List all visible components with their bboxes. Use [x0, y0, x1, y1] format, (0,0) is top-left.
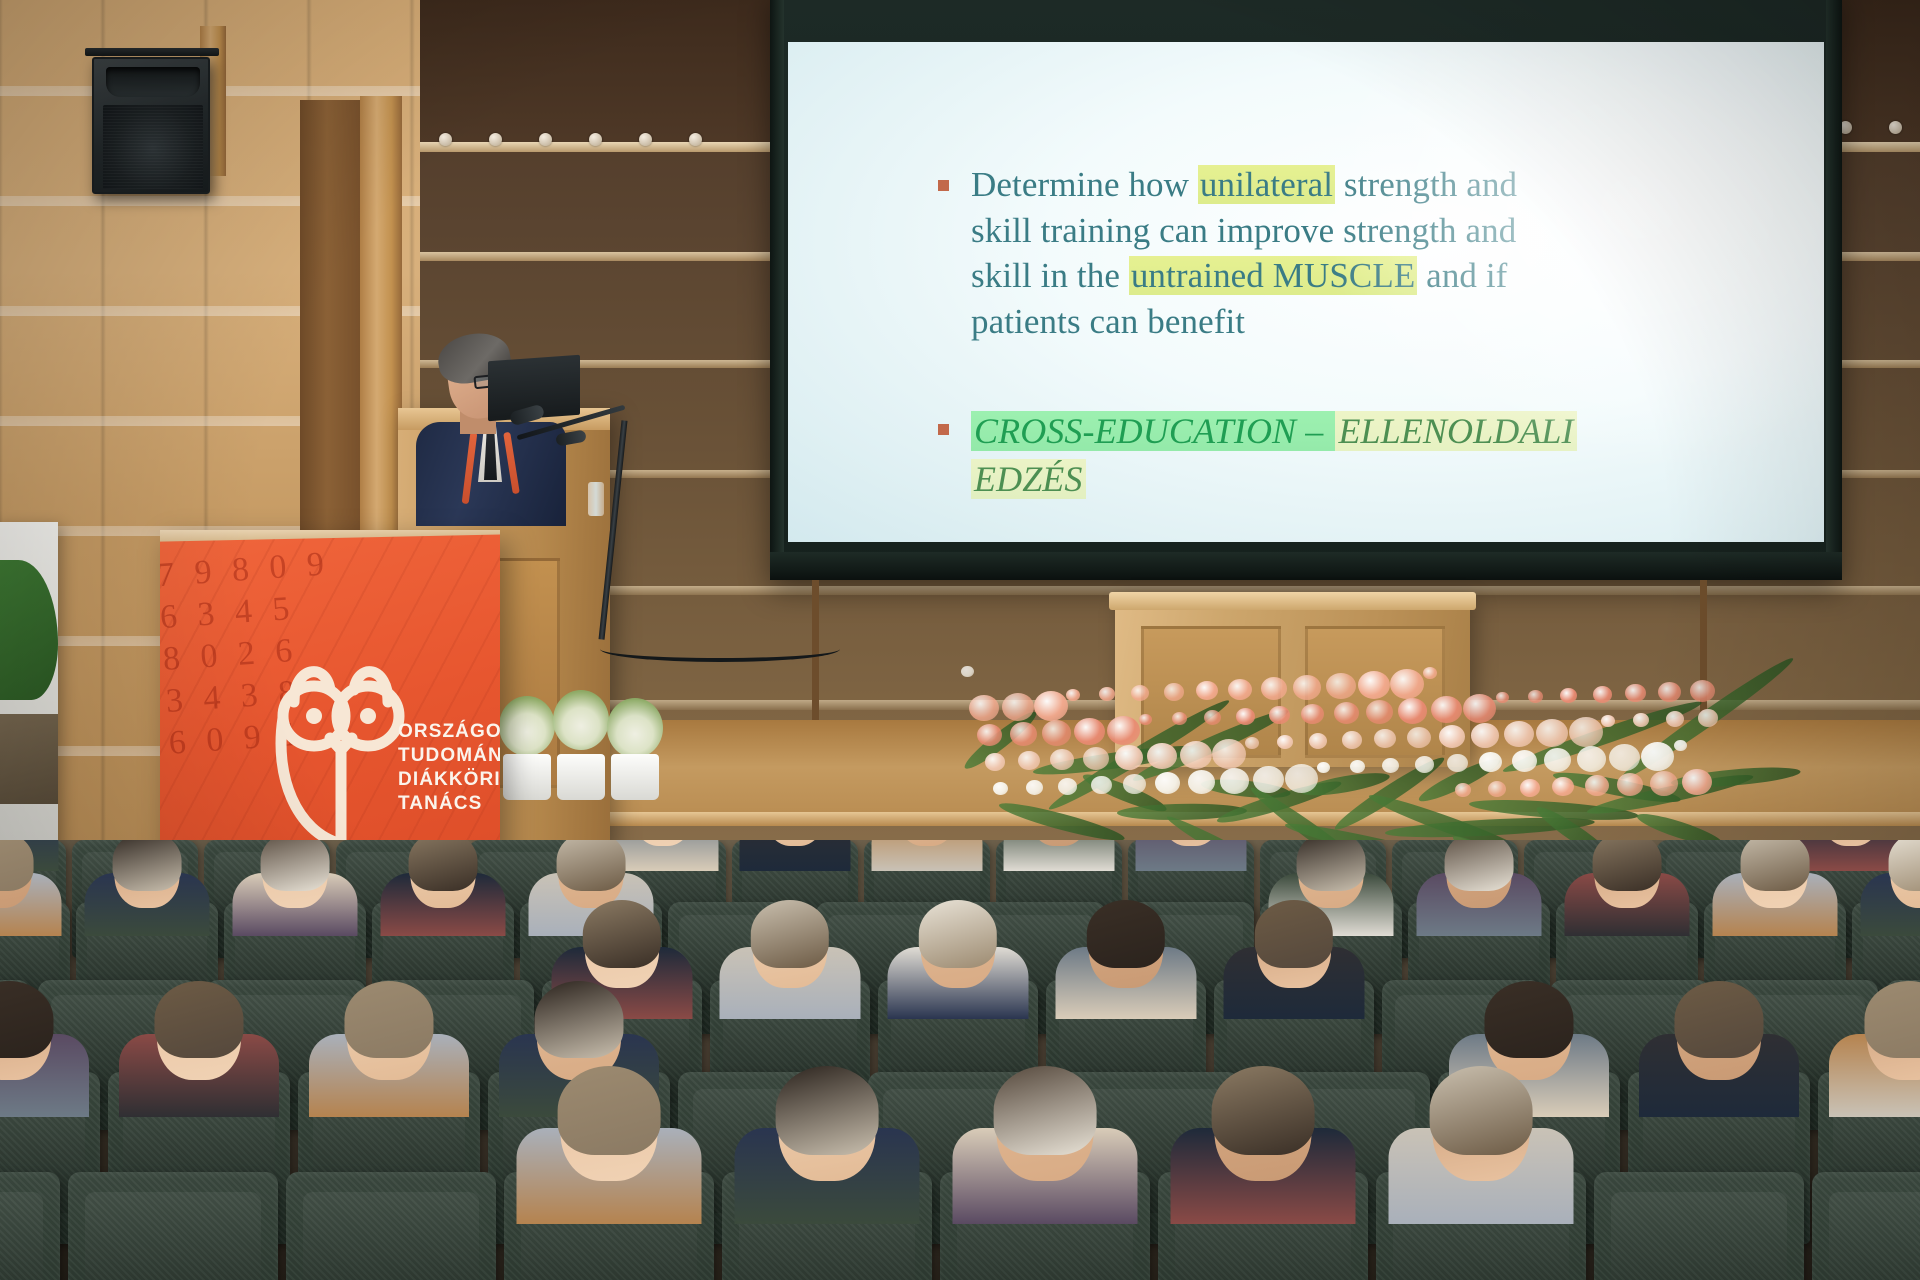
audience-member: [872, 840, 983, 871]
audience-member: [0, 983, 89, 1117]
flower-bloom: [1455, 783, 1471, 797]
flower-bloom: [1269, 706, 1290, 724]
blooms: [955, 660, 1705, 810]
flower-bloom: [1115, 745, 1143, 770]
flower-bloom: [1285, 764, 1318, 793]
flower-bloom: [1293, 675, 1321, 700]
flower-bloom: [1593, 686, 1612, 703]
audience-member-hair: [1212, 1066, 1315, 1155]
audience-member: [1639, 983, 1799, 1117]
flower-bloom: [1050, 749, 1074, 770]
audience-member: [517, 1068, 702, 1224]
flower-pot: [611, 754, 659, 800]
flower-bloom: [1504, 721, 1534, 747]
audience-member-hair: [919, 900, 997, 968]
flower-bloom: [1633, 713, 1649, 727]
flower-bloom: [1674, 740, 1687, 751]
audience-member: [953, 1068, 1138, 1224]
flower-bloom: [1034, 691, 1068, 721]
audience-member: [233, 840, 358, 936]
light-dot: [1889, 121, 1902, 134]
flower-bloom: [1277, 735, 1293, 749]
audience-member-hair: [409, 840, 478, 891]
otdt-line-1: ORSZÁGOS: [398, 720, 500, 744]
flower-bloom: [1390, 669, 1424, 699]
audience-member-hair: [154, 981, 243, 1058]
audience-member: [1224, 902, 1365, 1019]
flower-bloom: [1350, 760, 1365, 773]
audience-member: [0, 840, 62, 936]
speaker-horn: [106, 67, 200, 97]
slide-bullet-2: CROSS-EDUCATION – ELLENOLDALI EDZÉS: [938, 408, 1738, 503]
audience-member-hair: [751, 900, 829, 968]
flower-bloom: [1236, 708, 1255, 725]
audience-member-hair: [558, 1066, 661, 1155]
flower-bloom: [1066, 689, 1080, 701]
speaker-grille: [103, 105, 203, 189]
seg-highlight-edzes: EDZÉS: [971, 459, 1086, 499]
audience-member-hair: [1674, 981, 1763, 1058]
flower-bloom: [1682, 769, 1712, 795]
flower-bloom: [1131, 685, 1149, 701]
flower-bloom: [1382, 758, 1399, 773]
seg-highlight-cross-education: CROSS-EDUCATION –: [971, 411, 1335, 451]
flower-bloom: [1326, 673, 1356, 699]
flower-bloom: [1010, 722, 1037, 746]
audience-member: [1417, 840, 1542, 936]
seg-highlight-ellenoldali: ELLENOLDALI: [1335, 411, 1576, 451]
flower-bloom: [1528, 690, 1543, 703]
audience-member-hair: [1430, 1066, 1533, 1155]
flower-bloom: [1253, 766, 1284, 793]
seg-plain: patients can benefit: [971, 302, 1245, 341]
flower-arrangement: [955, 660, 1705, 850]
flower-bloom: [1099, 687, 1115, 701]
flower-bloom: [1188, 770, 1215, 794]
flower-bloom: [1617, 773, 1643, 796]
flower-pot: [503, 754, 551, 800]
flower-pot: [557, 754, 605, 800]
audience-member: [888, 902, 1029, 1019]
auditorium-scene: Aim Determine how unilateral strength an…: [0, 0, 1920, 1280]
audience-member: [85, 840, 210, 936]
audience-member: [1829, 983, 1920, 1117]
flower-bloom: [1342, 731, 1362, 749]
flower-bloom: [1042, 720, 1071, 746]
audience-member: [740, 840, 851, 871]
banner-green-graphic: [0, 560, 58, 700]
flower-bloom: [1577, 746, 1606, 772]
flower-bloom: [1204, 710, 1221, 725]
audience-member-hair: [1484, 981, 1573, 1058]
audience-member-hair: [261, 840, 330, 891]
flower-bloom: [1431, 696, 1462, 723]
flower-bloom: [1026, 780, 1043, 795]
otdt-line-3: DIÁKKÖRI: [398, 768, 500, 792]
water-bottle: [588, 482, 604, 516]
flower-bloom: [1552, 777, 1574, 796]
flower-bloom: [1366, 700, 1393, 724]
flower-bloom: [1536, 719, 1568, 747]
flower-bloom: [1423, 667, 1437, 679]
flower-bloom: [1334, 702, 1359, 724]
flower-bloom: [1544, 748, 1571, 772]
audience-member: [119, 983, 279, 1117]
seg-plain: strength and: [1335, 165, 1517, 204]
owl-logo: [268, 646, 414, 856]
audience-member-hair: [1445, 840, 1514, 891]
auditorium-seat: [0, 1172, 60, 1280]
flower-bloom: [1018, 751, 1040, 770]
flower-bloom: [1690, 680, 1715, 702]
seg-plain: Determine how: [971, 165, 1198, 204]
flower-bloom: [1374, 729, 1396, 748]
light-dot: [489, 133, 502, 146]
flower-bloom: [1609, 744, 1640, 771]
flower-bloom: [1301, 704, 1324, 724]
flower-bloom: [1447, 754, 1468, 772]
audience-member: [309, 983, 469, 1117]
flower-bloom: [1196, 681, 1218, 700]
flower-bloom: [1439, 725, 1465, 748]
screen-edge-right: [1826, 0, 1842, 580]
loudspeaker: [92, 57, 210, 194]
light-dot: [439, 133, 452, 146]
audience-member-hair: [1593, 840, 1662, 891]
audience-member: [1861, 840, 1920, 936]
flower-bloom: [1585, 775, 1609, 796]
flower-bloom: [1658, 682, 1681, 702]
flower-bloom: [1666, 711, 1684, 727]
screen-edge-bottom: [770, 552, 1842, 580]
flower-bloom: [1407, 727, 1431, 748]
flower-bloom: [1512, 750, 1537, 772]
flower-bloom: [961, 666, 974, 677]
audience-member: [1004, 840, 1115, 871]
otdt-line-4: TANÁCS: [398, 792, 500, 816]
bullet-1-text: Determine how unilateral strength and sk…: [971, 162, 1517, 344]
bullet-2-text: CROSS-EDUCATION – ELLENOLDALI EDZÉS: [971, 408, 1577, 503]
seg-plain: skill training can improve strength and: [971, 211, 1516, 250]
seg-plain: and if: [1417, 256, 1507, 295]
audience-member-hair: [1864, 981, 1920, 1058]
auditorium-seat: [68, 1172, 278, 1280]
light-dot: [589, 133, 602, 146]
audience-member-hair: [557, 840, 626, 891]
flower-bloom: [1520, 779, 1540, 797]
flower-bloom: [1220, 768, 1249, 794]
flower-bloom: [1496, 692, 1509, 703]
audience-member-hair: [344, 981, 433, 1058]
flower-bloom: [969, 695, 999, 721]
banner-photo: [0, 714, 58, 804]
audience-member-hair: [534, 981, 623, 1058]
audience-member: [381, 840, 506, 936]
screen-edge-left: [770, 0, 784, 580]
secondary-banner: [0, 522, 58, 852]
flower-bloom: [1415, 756, 1434, 773]
auditorium-seat: [286, 1172, 496, 1280]
flower-bloom: [1625, 684, 1646, 702]
audience-member-hair: [583, 900, 661, 968]
flower-bloom: [1261, 677, 1287, 700]
projected-slide: Aim Determine how unilateral strength an…: [788, 42, 1824, 542]
audience-member-hair: [1255, 900, 1333, 968]
audience-member-hair: [1741, 840, 1810, 891]
flower-bloom: [1180, 741, 1212, 769]
wood-column-center: [300, 100, 360, 570]
flower-bloom: [1074, 718, 1105, 745]
flower-bloom: [1650, 771, 1678, 796]
flower-bloom: [1358, 671, 1390, 699]
flower-bloom: [1172, 712, 1187, 725]
flower-bloom: [1139, 714, 1152, 725]
potted-plants: [495, 690, 665, 800]
flower-bloom: [1560, 688, 1577, 703]
plant-foliage: [499, 696, 555, 756]
audience-member: [1565, 840, 1690, 936]
audience-member-hair: [113, 840, 182, 891]
light-dot: [689, 133, 702, 146]
bullet-square-icon: [938, 180, 949, 191]
projection-screen: Aim Determine how unilateral strength an…: [770, 0, 1842, 580]
audience-member-hair: [994, 1066, 1097, 1155]
flower-bloom: [1309, 733, 1327, 749]
audience-member-hair: [776, 1066, 879, 1155]
bullet-square-icon: [938, 424, 949, 435]
seg-plain: skill in the: [971, 256, 1129, 295]
audience-member: [1171, 1068, 1356, 1224]
microphone-cable: [600, 636, 840, 662]
light-dot: [639, 133, 652, 146]
flower-bloom: [1164, 683, 1184, 701]
auditorium-seat: [1812, 1172, 1920, 1280]
flower-bloom: [1317, 762, 1330, 773]
flower-bloom: [993, 782, 1008, 795]
flower-bloom: [1245, 737, 1259, 749]
flower-bloom: [1698, 709, 1718, 727]
flower-bloom: [1488, 781, 1506, 797]
audience-area: [0, 840, 1920, 1280]
flower-bloom: [1058, 778, 1077, 795]
otdt-line-2: TUDOMÁNYOS: [398, 744, 500, 768]
seg-highlight-untrained-muscle: untrained MUSCLE: [1129, 256, 1418, 295]
audience-member: [1136, 840, 1247, 871]
ceiling-light-strip-right: [420, 130, 720, 148]
plant-foliage: [553, 690, 609, 750]
otdt-organization-name: ORSZÁGOS TUDOMÁNYOS DIÁKKÖRI TANÁCS: [398, 720, 500, 816]
flower-bloom: [1147, 743, 1177, 769]
speaker-mount-bracket: [85, 48, 219, 56]
flower-bloom: [1479, 752, 1502, 772]
banner-top-rail: [160, 530, 500, 542]
auditorium-seat: [1594, 1172, 1804, 1280]
flower-bloom: [985, 753, 1005, 771]
audience-member-hair: [1297, 840, 1366, 891]
slide-body: Determine how unilateral strength and sk…: [938, 162, 1738, 503]
flower-bloom: [1228, 679, 1252, 700]
flower-bloom: [1601, 715, 1615, 727]
slide-bullet-1: Determine how unilateral strength and sk…: [938, 162, 1738, 344]
light-dot: [539, 133, 552, 146]
flower-bloom: [1463, 694, 1496, 723]
audience-member: [1389, 1068, 1574, 1224]
flower-bloom: [1641, 742, 1674, 771]
flower-bloom: [1083, 747, 1109, 770]
flower-bloom: [1002, 693, 1034, 721]
flower-bloom: [1123, 774, 1146, 794]
audience-member: [735, 1068, 920, 1224]
audience-member: [1056, 902, 1197, 1019]
flower-bloom: [1155, 772, 1180, 794]
seg-highlight-unilateral: unilateral: [1198, 165, 1335, 204]
audience-member-hair: [1087, 900, 1165, 968]
flower-bloom: [1107, 716, 1140, 745]
flower-bloom: [977, 724, 1002, 746]
flower-bloom: [1212, 739, 1246, 769]
lectern-top: [1109, 592, 1476, 610]
audience-member: [1713, 840, 1838, 936]
plant-foliage: [607, 698, 663, 758]
flower-bloom: [1398, 698, 1427, 724]
flower-bloom: [1471, 723, 1499, 748]
flower-bloom: [1091, 776, 1112, 794]
audience-member-hair: [0, 981, 54, 1058]
flower-bloom: [1569, 717, 1603, 747]
audience-member: [720, 902, 861, 1019]
